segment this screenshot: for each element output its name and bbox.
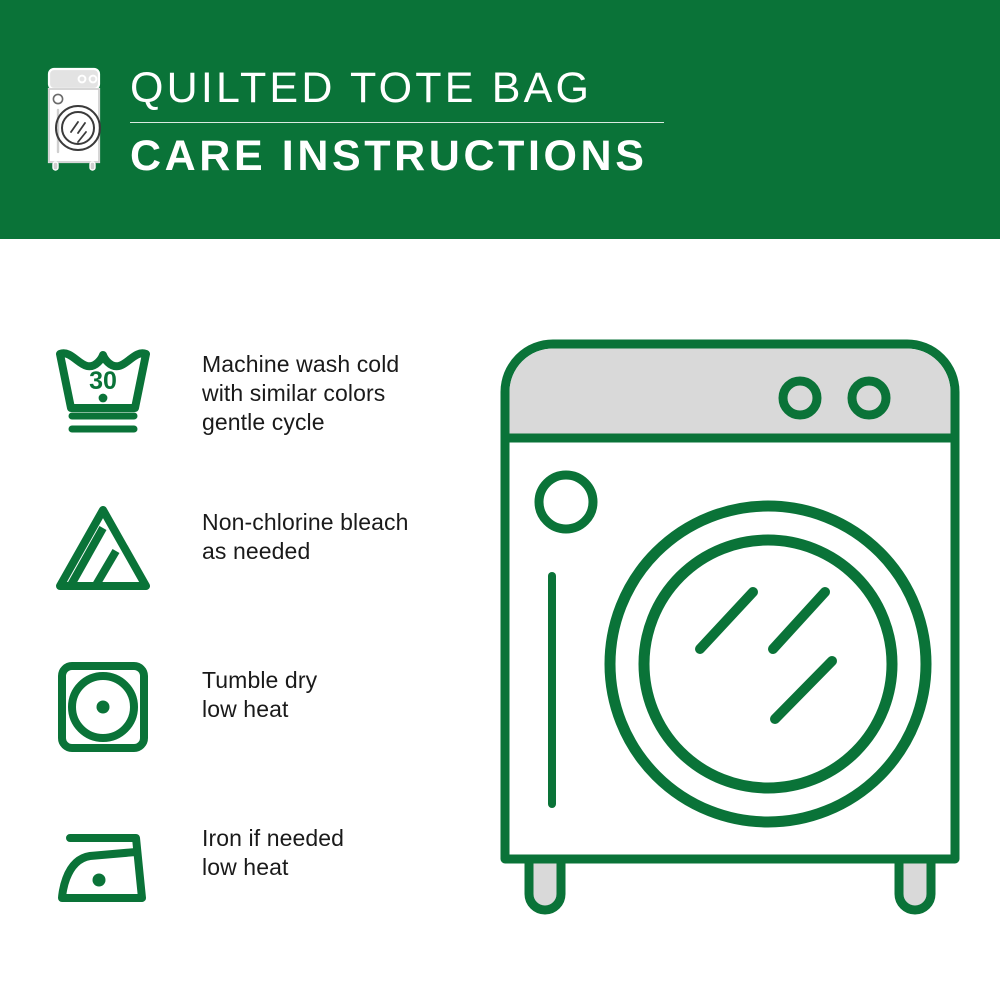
care-text-line: Non-chlorine bleach	[202, 508, 408, 537]
title-divider	[130, 122, 664, 123]
care-text-wash: Machine wash cold with similar colors ge…	[160, 344, 399, 437]
care-text-line: low heat	[202, 695, 317, 724]
care-text-line: as needed	[202, 537, 408, 566]
care-row-tumble-dry: Tumble dry low heat	[52, 660, 472, 818]
page-subtitle: CARE INSTRUCTIONS	[130, 132, 664, 180]
non-chlorine-bleach-triangle-icon	[52, 502, 154, 594]
wash-symbol-wrapper: 30	[52, 344, 160, 436]
care-text-line: gentle cycle	[202, 408, 399, 437]
front-load-washing-machine-illustration	[495, 334, 965, 934]
care-row-iron: Iron if needed low heat	[52, 818, 472, 976]
washing-machine-icon	[44, 66, 106, 174]
care-text-line: with similar colors	[202, 379, 399, 408]
care-instruction-list: 30 Machine wash cold with similar colors…	[52, 344, 472, 976]
care-text-line: Tumble dry	[202, 666, 317, 695]
care-text-tumble-dry: Tumble dry low heat	[160, 660, 317, 724]
header-title-block: QUILTED TOTE BAG CARE INSTRUCTIONS	[130, 60, 664, 180]
care-text-line: Machine wash cold	[202, 350, 399, 379]
care-row-wash: 30 Machine wash cold with similar colors…	[52, 344, 472, 502]
care-text-line: low heat	[202, 853, 344, 882]
page-title: QUILTED TOTE BAG	[130, 62, 664, 114]
tumble-dry-low-icon	[52, 660, 154, 752]
iron-low-heat-icon	[52, 818, 154, 910]
care-row-bleach: Non-chlorine bleach as needed	[52, 502, 472, 660]
iron-symbol-wrapper	[52, 818, 160, 910]
care-text-iron: Iron if needed low heat	[160, 818, 344, 882]
wash-temperature-label: 30	[89, 367, 117, 395]
main-content: 30 Machine wash cold with similar colors…	[0, 239, 1000, 1000]
header-content: QUILTED TOTE BAG CARE INSTRUCTIONS	[44, 60, 664, 180]
tumble-dry-symbol-wrapper	[52, 660, 160, 752]
care-text-line: Iron if needed	[202, 824, 344, 853]
care-text-bleach: Non-chlorine bleach as needed	[160, 502, 408, 566]
bleach-symbol-wrapper	[52, 502, 160, 594]
page-header: QUILTED TOTE BAG CARE INSTRUCTIONS	[0, 0, 1000, 239]
wash-tub-30-gentle-icon: 30	[52, 344, 154, 436]
